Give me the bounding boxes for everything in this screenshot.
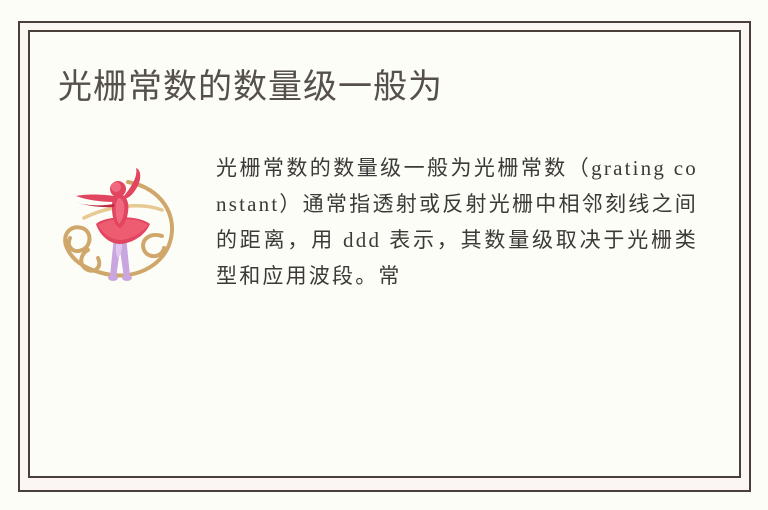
- page-title: 光栅常数的数量级一般为: [58, 66, 443, 108]
- article-body-line-4: 的距离，用 ddd 表示，其数量级: [216, 228, 556, 252]
- article-body-line-3: 透射或反射光栅中相邻刻线之间: [372, 192, 698, 216]
- article-body: 光栅常数的数量级一般为光栅常数（grating constant）通常指透射或反…: [198, 150, 698, 294]
- article-body-line-1: 光栅常数的数量级一般为光栅常: [216, 156, 544, 180]
- article-card: 光栅常数的数量级一般为: [0, 0, 768, 510]
- content-row: 光栅常数的数量级一般为光栅常数（grating constant）通常指透射或反…: [58, 150, 698, 294]
- illustration-container: [58, 150, 198, 286]
- rhythmic-gymnast-ribbon-icon: [58, 158, 186, 286]
